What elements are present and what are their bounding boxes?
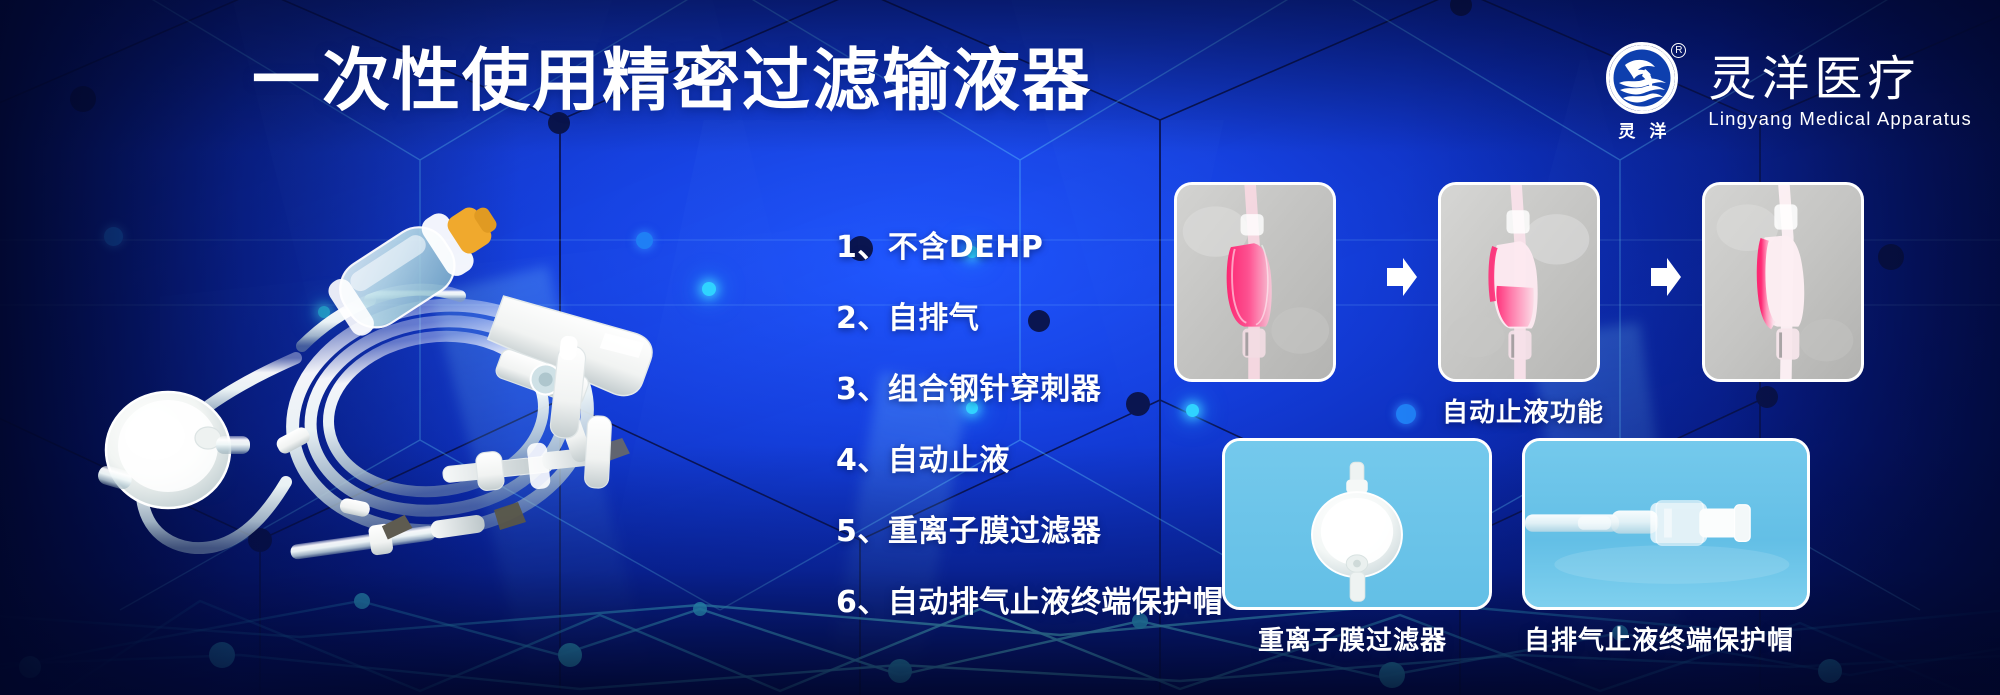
feature-item-6: 6、自动排气止液终端保护帽 [836, 577, 1223, 621]
feature-item-2: 2、自排气 [836, 293, 1223, 337]
autostop-panel-step-3 [1702, 182, 1864, 382]
caption-autostop: 自动止液功能 [1442, 392, 1604, 429]
feature-item-3: 3、组合钢针穿刺器 [836, 364, 1223, 408]
logo-emblem: R 灵洋 [1596, 42, 1688, 142]
page-title: 一次性使用精密过滤输液器 [252, 48, 1092, 116]
logo-emblem-subtext: 灵洋 [1596, 117, 1688, 142]
feature-list: 1、不含DEHP 2、自排气 3、组合钢针穿刺器 4、自动止液 5、重离子膜过滤… [836, 222, 1223, 621]
feature-item-5: 5、重离子膜过滤器 [836, 506, 1223, 550]
brand-name-en: Lingyang Medical Apparatus [1708, 108, 1972, 130]
arrow-right-icon-1 [1385, 255, 1419, 299]
product-banner: 一次性使用精密过滤输液器 R 灵洋 灵洋医疗 Lingyang Medical … [0, 0, 2000, 695]
brand-text: 灵洋医疗 Lingyang Medical Apparatus [1708, 54, 1972, 130]
autostop-panel-step-2 [1438, 182, 1600, 382]
logo-circle-icon [1606, 42, 1678, 114]
brand-name-cn: 灵洋医疗 [1708, 54, 1972, 104]
endcap-panel [1522, 438, 1810, 610]
product-image-infusion-set [40, 150, 800, 570]
arrow-right-icon-2 [1649, 255, 1683, 299]
brand-logo: R 灵洋 灵洋医疗 Lingyang Medical Apparatus [1596, 42, 1972, 142]
feature-item-1: 1、不含DEHP [836, 222, 1223, 266]
filter-panel [1222, 438, 1492, 610]
feature-item-4: 4、自动止液 [836, 435, 1223, 479]
autostop-panel-step-1 [1174, 182, 1336, 382]
caption-endcap: 自排气止液终端保护帽 [1524, 620, 1794, 657]
caption-filter: 重离子膜过滤器 [1258, 620, 1447, 657]
registered-trademark-icon: R [1671, 43, 1686, 58]
